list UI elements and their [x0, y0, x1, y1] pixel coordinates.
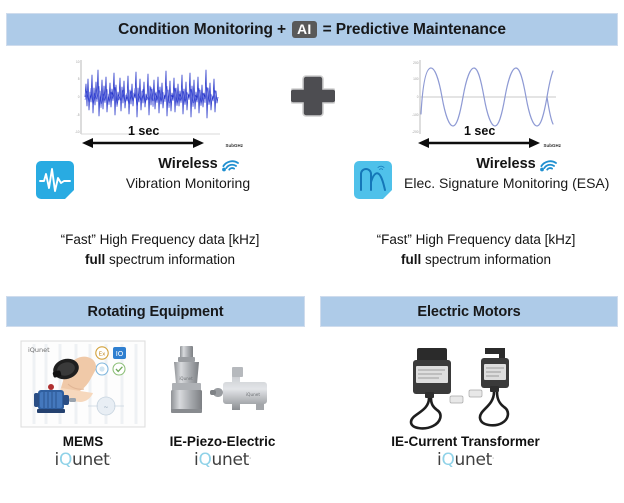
- product-current-transformer-name: IE-Current Transformer: [378, 434, 553, 449]
- vibration-blurb-line2: full spectrum information: [20, 250, 300, 270]
- svg-text:-100: -100: [412, 113, 419, 117]
- svg-text:~: ~: [103, 404, 108, 411]
- current-transformer-left: [411, 348, 463, 428]
- modality-esa-text: Wireless SubGHz Elec. Signature Monitori…: [404, 155, 610, 192]
- svg-text:iQunet: iQunet: [179, 376, 193, 381]
- product-piezo-name: IE-Piezo-Electric: [155, 434, 290, 449]
- vibration-blurb-bold: full: [85, 252, 105, 267]
- esa-blurb: “Fast” High Frequency data [kHz] full sp…: [336, 230, 616, 269]
- wifi-icon: [220, 150, 242, 172]
- product-current-transformer-brand: iQunet.: [378, 450, 553, 470]
- svg-text:-10: -10: [75, 130, 80, 134]
- brand-rest: unet: [455, 450, 492, 470]
- modality-vibration: Wireless SubGHz Vibration Monitoring: [30, 155, 292, 192]
- svg-text:IO: IO: [116, 350, 124, 358]
- brand-tm: .: [249, 452, 251, 460]
- product-mems-brand: iQunet.: [18, 450, 148, 470]
- svg-text:iQunet: iQunet: [28, 346, 50, 354]
- vibration-sensor-icon: [36, 161, 74, 199]
- wifi-icon: [538, 150, 560, 172]
- vibration-duration-arrow: [82, 136, 204, 150]
- product-mems-name: MEMS: [18, 434, 148, 449]
- brand-rest: unet: [212, 450, 249, 470]
- vibration-blurb-rest: spectrum information: [105, 252, 235, 267]
- modality-vibration-text: Wireless SubGHz Vibration Monitoring: [86, 155, 292, 192]
- brand-tm: .: [492, 452, 494, 460]
- electric-motors-title: Electric Motors: [417, 304, 520, 320]
- brand-q: Q: [59, 450, 72, 470]
- title-part-before: Condition Monitoring +: [118, 21, 286, 39]
- current-transformer-product-photo: [381, 340, 551, 432]
- wireless-heading-row: Wireless SubGHz: [86, 155, 290, 173]
- svg-text:Ex: Ex: [99, 351, 106, 357]
- esa-duration-arrow: [418, 136, 540, 150]
- piezo-electric-product-photo: iQunet iQunet: [158, 340, 288, 428]
- wireless-heading: Wireless SubGHz: [158, 156, 218, 173]
- esa-blurb-bold: full: [401, 252, 421, 267]
- section-banner-electric-motors: Electric Motors: [320, 296, 618, 327]
- brand-tm: .: [110, 452, 112, 460]
- modality-vibration-description: Vibration Monitoring: [86, 175, 290, 192]
- svg-text:0: 0: [417, 95, 419, 99]
- wireless-heading: Wireless SubGHz: [476, 156, 536, 173]
- horizontal-piezo-sensor: iQunet: [210, 367, 267, 410]
- rotating-equipment-title: Rotating Equipment: [88, 304, 224, 320]
- ai-badge: AI: [292, 21, 317, 39]
- title-part-after: = Predictive Maintenance: [323, 21, 506, 39]
- svg-text:-5: -5: [77, 113, 80, 117]
- svg-text:200: 200: [413, 61, 419, 65]
- subghz-label: SubGHz: [544, 143, 562, 148]
- svg-text:100: 100: [413, 77, 419, 81]
- modality-esa-description: Elec. Signature Monitoring (ESA): [404, 175, 608, 192]
- main-title-text: Condition Monitoring + AI = Predictive M…: [118, 21, 506, 39]
- vertical-piezo-sensor: iQunet: [171, 346, 202, 413]
- brand-q: Q: [441, 450, 454, 470]
- electrical-signature-icon: [354, 161, 392, 199]
- product-mems: iQunet Ex IO: [18, 340, 148, 470]
- wireless-heading-row: Wireless SubGHz: [404, 155, 608, 173]
- svg-text:5: 5: [78, 77, 80, 81]
- wireless-label: Wireless: [158, 156, 218, 172]
- vibration-blurb-line1: “Fast” High Frequency data [kHz]: [20, 230, 300, 250]
- vibration-blurb: “Fast” High Frequency data [kHz] full sp…: [20, 230, 300, 269]
- subghz-label: SubGHz: [226, 143, 244, 148]
- esa-blurb-line1: “Fast” High Frequency data [kHz]: [336, 230, 616, 250]
- svg-text:0: 0: [78, 95, 80, 99]
- brand-rest: unet: [72, 450, 109, 470]
- esa-blurb-rest: spectrum information: [421, 252, 551, 267]
- product-piezo-brand: iQunet.: [155, 450, 290, 470]
- mems-product-photo: iQunet Ex IO: [20, 340, 146, 428]
- svg-text:-200: -200: [412, 130, 419, 134]
- product-piezo-electric: iQunet iQunet IE-Piezo-Electric iQunet.: [155, 340, 290, 470]
- plus-operator-icon: [291, 74, 335, 118]
- current-transformer-right: [469, 348, 509, 425]
- brand-q: Q: [198, 450, 211, 470]
- main-title-banner: Condition Monitoring + AI = Predictive M…: [6, 13, 618, 46]
- svg-text:10: 10: [76, 60, 80, 64]
- product-current-transformer: IE-Current Transformer iQunet.: [378, 340, 553, 470]
- esa-blurb-line2: full spectrum information: [336, 250, 616, 270]
- section-banner-rotating-equipment: Rotating Equipment: [6, 296, 305, 327]
- modality-esa: Wireless SubGHz Elec. Signature Monitori…: [348, 155, 610, 192]
- svg-text:iQunet: iQunet: [246, 392, 260, 397]
- wireless-label: Wireless: [476, 156, 536, 172]
